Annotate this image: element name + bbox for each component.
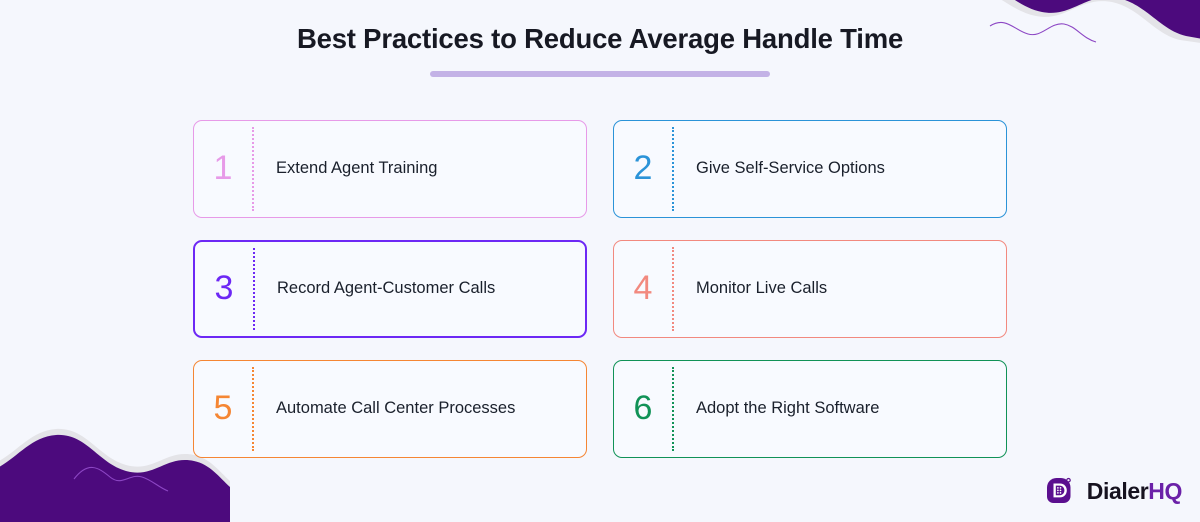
title-underline <box>430 71 770 77</box>
practice-number: 3 <box>195 242 253 336</box>
blob-wave-line <box>74 467 168 491</box>
practice-number: 4 <box>614 241 672 337</box>
practice-card-2[interactable]: 2 Give Self-Service Options <box>613 120 1007 218</box>
logo-text-primary: Dialer <box>1087 478 1149 504</box>
practice-card-4[interactable]: 4 Monitor Live Calls <box>613 240 1007 338</box>
dialerhq-logo[interactable]: DialerHQ <box>1040 472 1182 510</box>
practice-number: 1 <box>194 121 252 217</box>
practice-number: 2 <box>614 121 672 217</box>
practice-card-1[interactable]: 1 Extend Agent Training <box>193 120 587 218</box>
practice-label: Record Agent-Customer Calls <box>255 242 585 336</box>
dialerhq-dialpad-icon <box>1040 472 1078 510</box>
page-title: Best Practices to Reduce Average Handle … <box>0 22 1200 55</box>
practice-number: 5 <box>194 361 252 457</box>
logo-wordmark: DialerHQ <box>1087 480 1182 503</box>
practice-label: Adopt the Right Software <box>674 361 1006 457</box>
logo-text-accent: HQ <box>1148 478 1182 504</box>
practice-label: Give Self-Service Options <box>674 121 1006 217</box>
page-header: Best Practices to Reduce Average Handle … <box>0 0 1200 77</box>
practice-card-5[interactable]: 5 Automate Call Center Processes <box>193 360 587 458</box>
best-practices-grid: 1 Extend Agent Training 2 Give Self-Serv… <box>193 120 1007 458</box>
practice-label: Automate Call Center Processes <box>254 361 586 457</box>
practice-card-6[interactable]: 6 Adopt the Right Software <box>613 360 1007 458</box>
practice-number: 6 <box>614 361 672 457</box>
practice-label: Extend Agent Training <box>254 121 586 217</box>
practice-label: Monitor Live Calls <box>674 241 1006 337</box>
practice-card-3[interactable]: 3 Record Agent-Customer Calls <box>193 240 587 338</box>
